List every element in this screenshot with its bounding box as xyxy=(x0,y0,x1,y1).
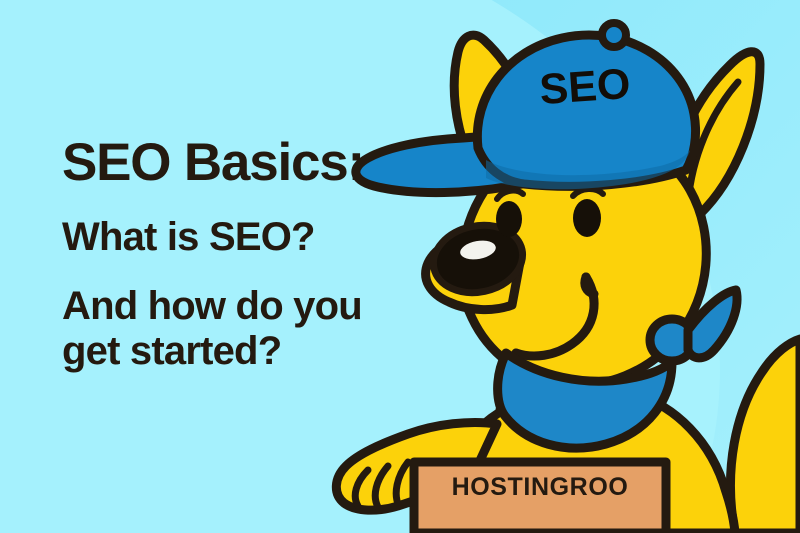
headline-question-one: What is SEO? xyxy=(62,216,482,258)
kangaroo-tail xyxy=(730,339,800,533)
headline-block: SEO Basics: What is SEO? And how do you … xyxy=(62,136,482,374)
sign-board xyxy=(414,462,666,533)
headline-question-two-line-1: And how do you xyxy=(62,284,482,329)
cap-button xyxy=(602,23,626,47)
seo-basics-banner: SEO SEO Basics: What is SEO? And how do … xyxy=(0,0,800,533)
page-title: SEO Basics: xyxy=(62,136,482,190)
cap-crown xyxy=(477,35,695,186)
kangaroo-eye-left xyxy=(496,201,522,237)
headline-question-two-line-2: get started? xyxy=(62,329,482,374)
kangaroo-eye-right xyxy=(573,199,601,237)
headline-question-two: And how do you get started? xyxy=(62,284,482,374)
